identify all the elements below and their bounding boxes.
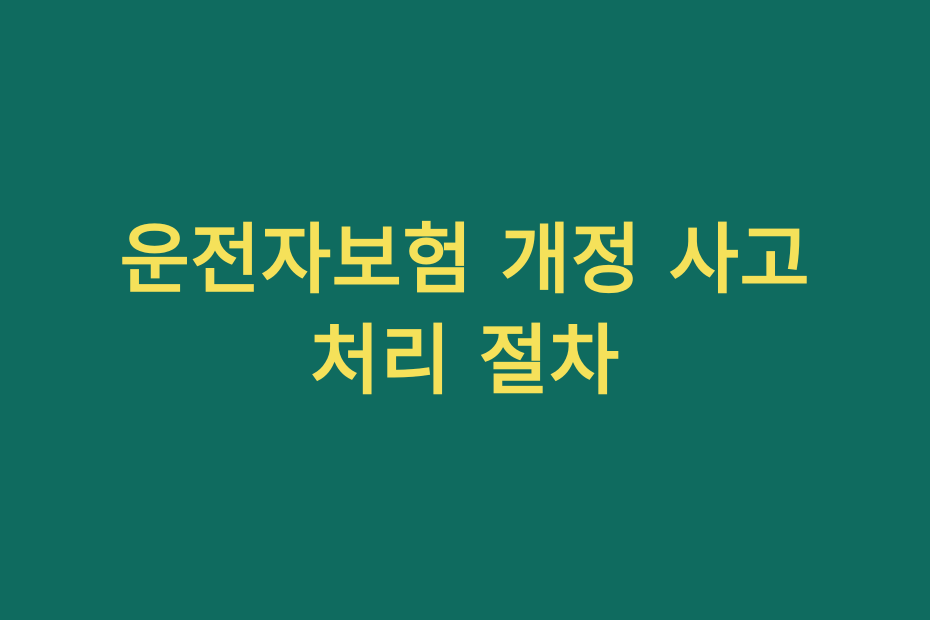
title-card: 운전자보험 개정 사고 처리 절차	[0, 0, 930, 620]
page-title: 운전자보험 개정 사고 처리 절차	[60, 209, 870, 411]
